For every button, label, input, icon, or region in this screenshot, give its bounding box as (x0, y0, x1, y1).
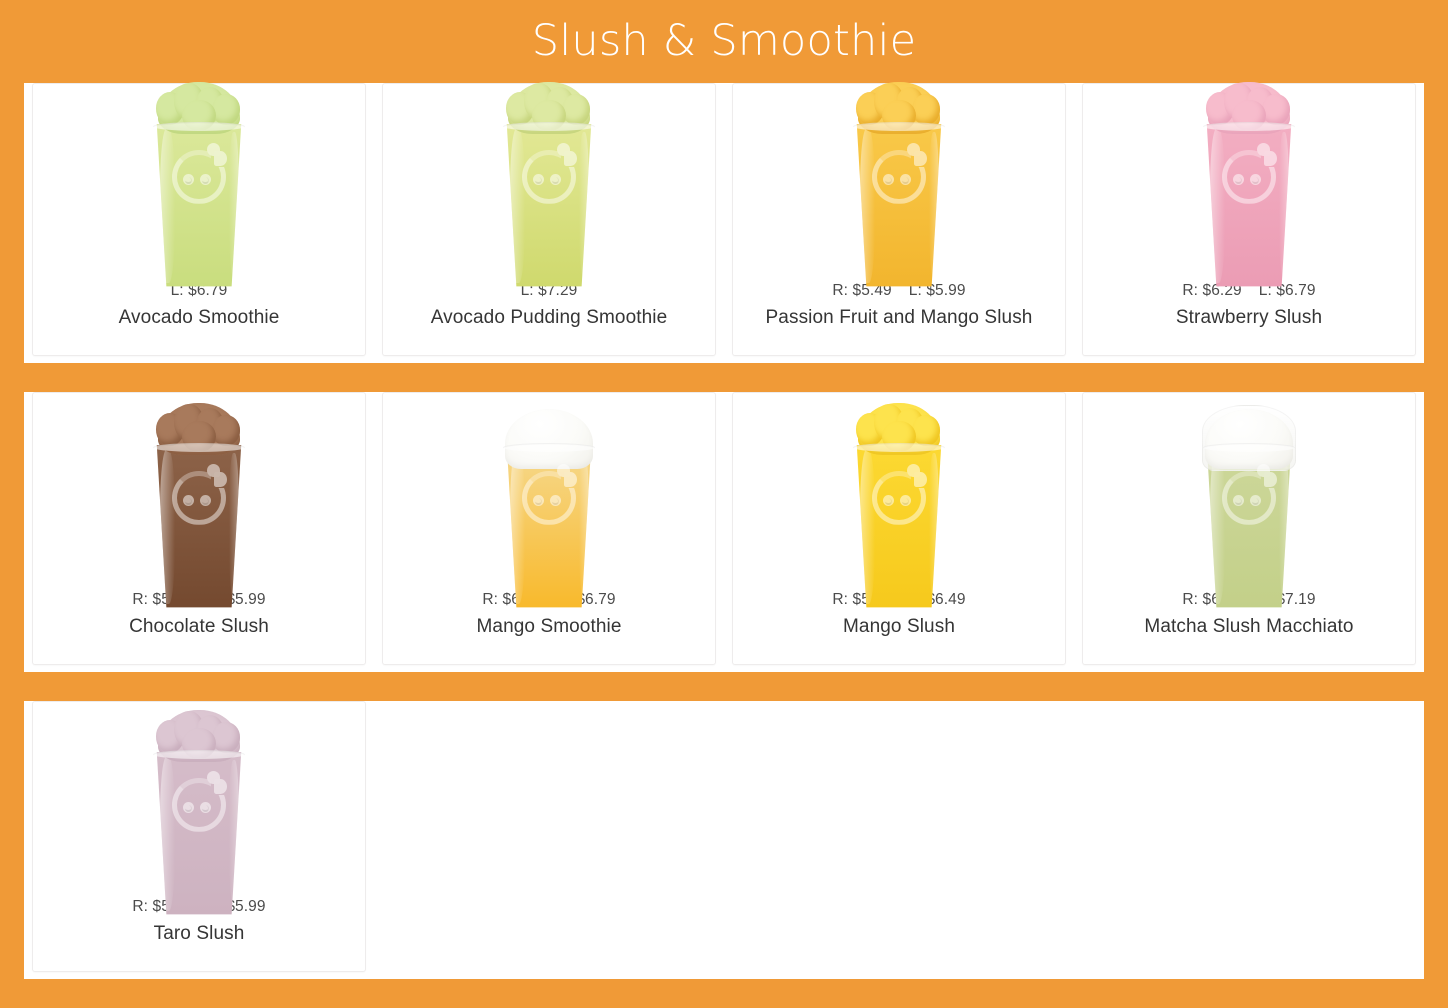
cup-graphic (501, 82, 597, 288)
drink-image (733, 389, 1065, 609)
cup-rim (853, 122, 945, 131)
cup-body (851, 124, 947, 288)
brand-mascot-icon (1222, 150, 1276, 204)
cup-graphic (501, 403, 597, 609)
menu-row: R: $5.49L: $5.99 Taro Slush (24, 701, 1424, 979)
cup-graphic (151, 403, 247, 609)
menu-item-card[interactable]: L: $7.29 Avocado Pudding Smoothie (382, 83, 716, 356)
menu-item-cell: L: $6.79 Avocado Smoothie (24, 83, 374, 363)
cup-rim (1203, 443, 1295, 452)
empty-cell (1074, 701, 1424, 979)
drink-image (33, 389, 365, 609)
brand-mascot-icon (522, 150, 576, 204)
cup-rim (853, 443, 945, 452)
cup-rim (153, 443, 245, 452)
empty-card (732, 701, 1066, 972)
drink-image (383, 80, 715, 288)
foam-top (505, 409, 593, 469)
menu-item-name: Avocado Pudding Smoothie (383, 307, 715, 329)
menu-item-cell: R: $5.49L: $5.99 Chocolate Slush (24, 392, 374, 672)
drink-image (1083, 80, 1415, 288)
menu-item-name: Taro Slush (33, 923, 365, 945)
drink-image (383, 389, 715, 609)
menu-item-cell: R: $6.29L: $6.79 Strawberry Slush (1074, 83, 1424, 363)
cup-graphic (851, 82, 947, 288)
menu-row: R: $5.49L: $5.99 Chocolate Slush R: $6.2… (24, 392, 1424, 672)
menu-item-card[interactable]: R: $5.99L: $6.49 Mango Slush (732, 392, 1066, 665)
cup-body (501, 124, 597, 288)
menu-item-card[interactable]: L: $6.79 Avocado Smoothie (32, 83, 366, 356)
cup-body (1201, 124, 1297, 288)
menu-item-cell: R: $6.29L: $6.79 Mango Smoothie (374, 392, 724, 672)
cup-body (501, 445, 597, 609)
menu-item-card[interactable]: R: $5.49L: $5.99 Chocolate Slush (32, 392, 366, 665)
menu-item-name: Passion Fruit and Mango Slush (733, 307, 1065, 329)
cup-graphic (1201, 403, 1297, 609)
empty-card (382, 701, 716, 972)
brand-mascot-icon (872, 471, 926, 525)
cup-body (151, 752, 247, 916)
menu-item-cell: R: $5.49L: $5.99 Passion Fruit and Mango… (724, 83, 1074, 363)
cup-rim (503, 443, 595, 452)
empty-cell (374, 701, 724, 979)
menu-item-card[interactable]: R: $5.49L: $5.99 Passion Fruit and Mango… (732, 83, 1066, 356)
menu-item-name: Avocado Smoothie (33, 307, 365, 329)
menu-item-cell: L: $7.29 Avocado Pudding Smoothie (374, 83, 724, 363)
page-header: Slush & Smoothie (0, 0, 1448, 83)
cup-graphic (151, 710, 247, 916)
cup-rim (1203, 122, 1295, 131)
menu-item-card[interactable]: R: $6.29L: $6.79 Mango Smoothie (382, 392, 716, 665)
drink-image (33, 80, 365, 288)
brand-mascot-icon (522, 471, 576, 525)
drink-image (1083, 389, 1415, 609)
cup-rim (153, 750, 245, 759)
menu-item-name: Chocolate Slush (33, 616, 365, 638)
foam-top (1205, 409, 1293, 469)
menu-item-cell: R: $5.99L: $6.49 Mango Slush (724, 392, 1074, 672)
menu-item-card[interactable]: R: $5.49L: $5.99 Taro Slush (32, 701, 366, 972)
menu-item-name: Mango Slush (733, 616, 1065, 638)
footer-bar (0, 979, 1448, 985)
drink-image (33, 696, 365, 916)
menu-item-text: R: $6.29L: $6.79 Strawberry Slush (1083, 282, 1415, 355)
cup-rim (153, 122, 245, 131)
cup-graphic (151, 82, 247, 288)
cup-body (151, 124, 247, 288)
cup-rim (503, 122, 595, 131)
menu-item-name: Matcha Slush Macchiato (1083, 616, 1415, 638)
cup-graphic (1201, 82, 1297, 288)
page-title: Slush & Smoothie (532, 20, 917, 63)
menu-item-text: L: $7.29 Avocado Pudding Smoothie (383, 282, 715, 355)
drink-image (733, 80, 1065, 288)
menu-item-text: L: $6.79 Avocado Smoothie (33, 282, 365, 355)
cup-body (151, 445, 247, 609)
menu-item-cell: R: $5.49L: $5.99 Taro Slush (24, 701, 374, 979)
menu-item-name: Strawberry Slush (1083, 307, 1415, 329)
brand-mascot-icon (872, 150, 926, 204)
menu-item-name: Mango Smoothie (383, 616, 715, 638)
menu-item-cell: R: $6.69L: $7.19 Matcha Slush Macchiato (1074, 392, 1424, 672)
brand-mascot-icon (172, 471, 226, 525)
brand-mascot-icon (172, 778, 226, 832)
menu-panels: L: $6.79 Avocado Smoothie L: $7.29 Avoca… (0, 83, 1448, 979)
brand-mascot-icon (1222, 471, 1276, 525)
cup-graphic (851, 403, 947, 609)
empty-cell (724, 701, 1074, 979)
menu-row: L: $6.79 Avocado Smoothie L: $7.29 Avoca… (24, 83, 1424, 363)
menu-item-card[interactable]: R: $6.69L: $7.19 Matcha Slush Macchiato (1082, 392, 1416, 665)
menu-item-text: R: $5.49L: $5.99 Passion Fruit and Mango… (733, 282, 1065, 355)
cup-body (851, 445, 947, 609)
empty-card (1082, 701, 1416, 972)
menu-item-card[interactable]: R: $6.29L: $6.79 Strawberry Slush (1082, 83, 1416, 356)
brand-mascot-icon (172, 150, 226, 204)
